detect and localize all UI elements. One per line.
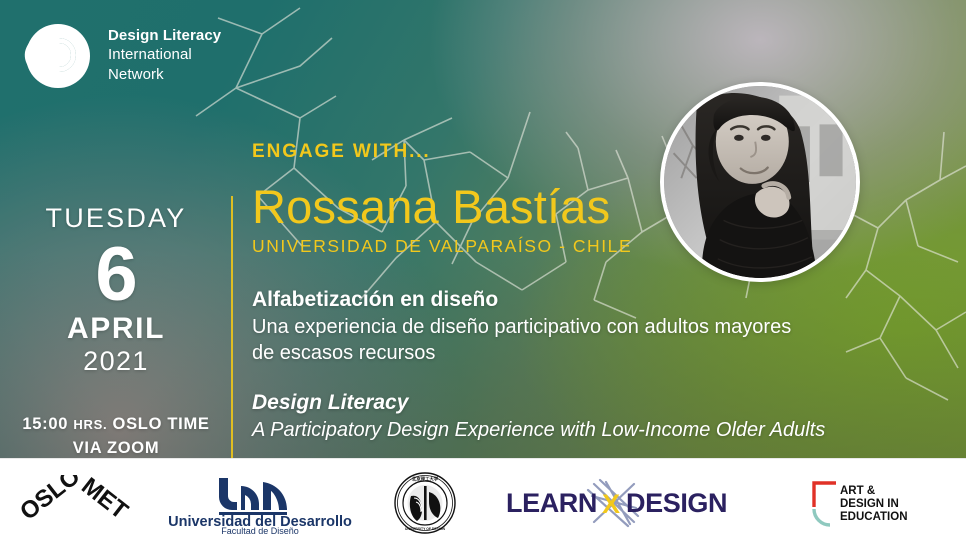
art-design-in-education-logo: ART & DESIGN IN EDUCATION: [740, 459, 966, 546]
udd-mark: [219, 478, 287, 515]
udd-logo: Universidad del Desarrollo Facultad de D…: [160, 459, 360, 546]
talk-details: Alfabetización en diseño Una experiencia…: [252, 287, 892, 443]
talk-subtitle-spanish-line2: de escasos recursos: [252, 340, 892, 366]
speaker-name: Rossana Bastías: [252, 183, 892, 231]
talk-title-spanish: Alfabetización en diseño: [252, 287, 892, 314]
day-number: 6: [0, 238, 232, 312]
design-literacy-d-icon: [22, 18, 94, 92]
lxd-text-x: X: [602, 489, 620, 519]
vertical-divider: [231, 196, 233, 458]
lxd-text-design: DESIGN: [626, 488, 727, 518]
svg-text:UNIVERSITY OF DESIGN: UNIVERSITY OF DESIGN: [405, 527, 445, 531]
brand-line-1: Design Literacy: [108, 26, 221, 46]
oslomet-text-oslo: OSLO: [20, 475, 85, 526]
brand-wordmark: Design Literacy International Network: [108, 26, 221, 85]
time-zone: OSLO TIME: [113, 415, 210, 433]
ade-line-2: DESIGN IN: [840, 498, 899, 510]
talk-subtitle-english: A Participatory Design Experience with L…: [252, 417, 892, 443]
eyebrow-label: ENGAGE WITH...: [252, 142, 892, 161]
ade-line-1: ART &: [840, 485, 875, 497]
date-block: TUESDAY 6 APRIL 2021 15:00 HRS. OSLO TIM…: [0, 205, 232, 461]
talk-subtitle-spanish-line1: Una experiencia de diseño participativo …: [252, 314, 892, 340]
speaker-affiliation: UNIVERSIDAD DE VALPARAÍSO - CHILE: [252, 238, 892, 256]
partner-logo-bar: OSLO MET Universidad del Desarrollo Facu…: [0, 458, 966, 546]
lxd-text-learn: LEARN: [506, 488, 597, 518]
ade-line-3: EDUCATION: [840, 511, 908, 523]
university-seal-logo: 北京理工大学 UNIVERSITY OF DESIGN: [360, 459, 490, 546]
oslomet-text-met: MET: [76, 475, 133, 525]
brand-line-3: Network: [108, 65, 221, 85]
day-of-week: TUESDAY: [0, 205, 232, 232]
year-label: 2021: [0, 348, 232, 375]
time-info: 15:00 HRS. OSLO TIME VIA ZOOM: [0, 413, 232, 461]
time-line: 15:00 HRS. OSLO TIME: [0, 413, 232, 437]
time-unit: HRS.: [73, 417, 107, 432]
oslomet-logo: OSLO MET: [0, 459, 160, 546]
event-poster: Design Literacy International Network TU…: [0, 0, 966, 546]
time-value: 15:00: [22, 415, 68, 433]
ade-teal-arc: [814, 509, 830, 525]
learnxdesign-logo: LEARN X DESIGN: [490, 459, 740, 546]
udd-faculty: Facultad de Diseño: [221, 526, 299, 534]
brand-line-2: International: [108, 45, 221, 65]
svg-text:北京理工大学: 北京理工大学: [412, 475, 439, 482]
ade-red-bracket: [814, 483, 836, 507]
month-label: APRIL: [0, 314, 232, 344]
main-content: ENGAGE WITH... Rossana Bastías UNIVERSID…: [252, 142, 892, 443]
talk-title-english: Design Literacy: [252, 390, 892, 417]
brand-logo: Design Literacy International Network: [22, 18, 221, 92]
